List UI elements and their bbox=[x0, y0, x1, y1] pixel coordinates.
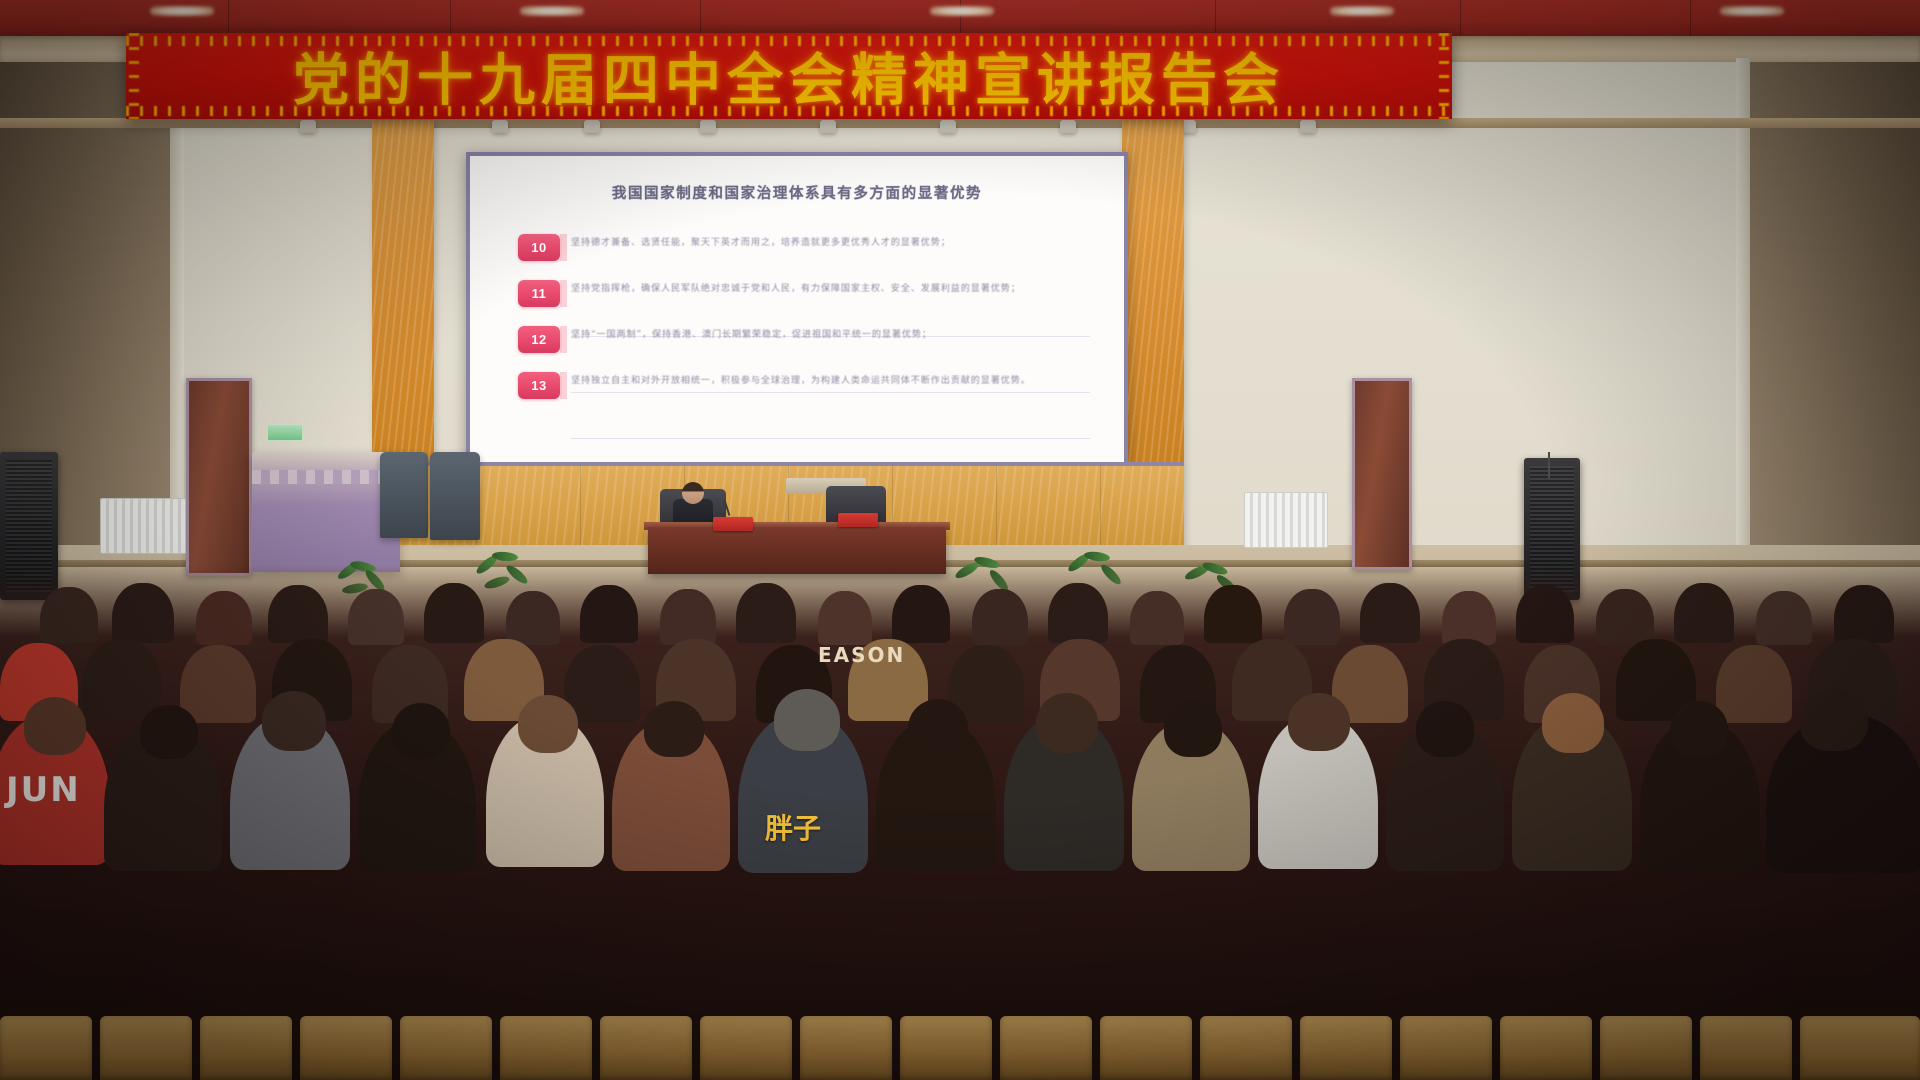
slide-title: 我国国家制度和国家治理体系具有多方面的显著优势 bbox=[470, 182, 1124, 203]
banner-title-text: 党的十九届四中全会精神宣讲报告会 bbox=[126, 36, 1452, 117]
ceiling-light bbox=[520, 6, 584, 16]
audience-member bbox=[660, 589, 716, 645]
audience-head bbox=[774, 689, 840, 751]
ceiling-light bbox=[1720, 6, 1784, 16]
audience-head bbox=[1800, 689, 1868, 751]
nameplate bbox=[713, 517, 753, 531]
list-item: 10 坚持德才兼备、选贤任能，聚天下英才而用之，培养造就更多更优秀人才的显著优势… bbox=[518, 234, 1106, 261]
audience-head bbox=[1288, 693, 1350, 751]
list-item: 11 坚持党指挥枪，确保人民军队绝对忠诚于党和人民，有力保障国家主权、安全、发展… bbox=[518, 280, 1106, 307]
bullet-number-badge: 10 bbox=[518, 234, 560, 261]
audience-member bbox=[112, 583, 174, 643]
table-skirt bbox=[252, 470, 400, 484]
seat bbox=[1000, 1016, 1092, 1080]
audience-member bbox=[82, 639, 162, 721]
track-light bbox=[584, 120, 600, 133]
projection-screen: 我国国家制度和国家治理体系具有多方面的显著优势 10 坚持德才兼备、选贤任能，聚… bbox=[470, 156, 1124, 466]
led-banner: 党的十九届四中全会精神宣讲报告会 bbox=[126, 33, 1452, 119]
jacket-logo-text: 胖子 bbox=[765, 807, 821, 847]
audience-member bbox=[268, 585, 328, 643]
seat bbox=[800, 1016, 892, 1080]
audience-head bbox=[908, 699, 968, 757]
audience-member bbox=[972, 589, 1028, 645]
track-light bbox=[300, 120, 316, 133]
audience-member bbox=[892, 585, 950, 643]
bullet-text: 坚持党指挥枪，确保人民军队绝对忠诚于党和人民，有力保障国家主权、安全、发展利益的… bbox=[571, 280, 1106, 297]
audience-head bbox=[24, 697, 86, 755]
audience-head bbox=[1670, 701, 1728, 757]
list-item: 13 坚持独立自主和对外开放相统一，积极参与全球治理，为构建人类命运共同体不断作… bbox=[518, 372, 1106, 399]
audience-member bbox=[1284, 589, 1340, 645]
mic-stand bbox=[1548, 452, 1550, 478]
track-light bbox=[820, 120, 836, 133]
audience-member bbox=[1834, 585, 1894, 643]
bullet-text: 坚持“一国两制”，保持香港、澳门长期繁荣稳定，促进祖国和平统一的显著优势； bbox=[571, 326, 1106, 343]
bullet-number-badge: 13 bbox=[518, 372, 560, 399]
track-light bbox=[1060, 120, 1076, 133]
audience-head bbox=[1416, 701, 1474, 757]
audience-member bbox=[818, 591, 872, 645]
audience-member bbox=[1716, 645, 1792, 723]
audience-seating-area: 胖子 JUN EASON bbox=[0, 565, 1920, 1080]
ceiling-light bbox=[930, 6, 994, 16]
draped-side-table bbox=[252, 452, 400, 572]
jacket-word-center: EASON bbox=[818, 643, 905, 667]
track-light bbox=[700, 120, 716, 133]
slide-bullet-list: 10 坚持德才兼备、选贤任能，聚天下英才而用之，培养造就更多更优秀人才的显著优势… bbox=[518, 234, 1106, 418]
seat bbox=[200, 1016, 292, 1080]
projection-screen-frame: 我国国家制度和国家治理体系具有多方面的显著优势 10 坚持德才兼备、选贤任能，聚… bbox=[466, 152, 1128, 470]
seat bbox=[1600, 1016, 1692, 1080]
jacket-word-left: JUN bbox=[6, 770, 81, 810]
audience-member bbox=[580, 585, 638, 643]
audience-member bbox=[1130, 591, 1184, 645]
audience-member bbox=[506, 591, 560, 645]
bullet-text: 坚持德才兼备、选贤任能，聚天下英才而用之，培养造就更多更优秀人才的显著优势； bbox=[571, 234, 1106, 251]
audience-member bbox=[1442, 591, 1496, 645]
bullet-number-badge: 12 bbox=[518, 326, 560, 353]
audience-member bbox=[736, 583, 796, 643]
audience-member bbox=[348, 589, 404, 645]
side-chair bbox=[430, 452, 480, 540]
radiator-right bbox=[1244, 492, 1328, 548]
seat bbox=[300, 1016, 392, 1080]
audience-member bbox=[180, 645, 256, 723]
seat bbox=[900, 1016, 992, 1080]
ceiling-light bbox=[1330, 6, 1394, 16]
side-chair bbox=[380, 452, 428, 538]
audience-head bbox=[644, 701, 704, 757]
audience-member bbox=[40, 587, 98, 643]
audience-member bbox=[1516, 585, 1574, 643]
seat bbox=[500, 1016, 592, 1080]
door-left[interactable] bbox=[186, 378, 252, 576]
seat bbox=[1500, 1016, 1592, 1080]
seat bbox=[1300, 1016, 1392, 1080]
audience-member bbox=[1674, 583, 1734, 643]
radiator-left bbox=[100, 498, 186, 554]
bullet-text: 坚持独立自主和对外开放相统一，积极参与全球治理，为构建人类命运共同体不断作出贡献… bbox=[571, 372, 1106, 389]
audience-head bbox=[1164, 701, 1222, 757]
seat bbox=[1100, 1016, 1192, 1080]
seat bbox=[1200, 1016, 1292, 1080]
nameplate bbox=[838, 513, 878, 527]
bullet-number-badge: 11 bbox=[518, 280, 560, 307]
audience-head bbox=[518, 695, 578, 753]
conference-hall-photo: 党的十九届四中全会精神宣讲报告会 我国国家制度和国家治理体系具有多方面的显著优势… bbox=[0, 0, 1920, 1080]
track-light bbox=[940, 120, 956, 133]
track-light bbox=[492, 120, 508, 133]
lighting-track bbox=[0, 118, 1920, 128]
list-item: 12 坚持“一国两制”，保持香港、澳门长期繁荣稳定，促进祖国和平统一的显著优势； bbox=[518, 326, 1106, 353]
seat bbox=[600, 1016, 692, 1080]
seat bbox=[1400, 1016, 1492, 1080]
exit-sign-icon bbox=[267, 424, 303, 441]
seat bbox=[700, 1016, 792, 1080]
audience-member bbox=[1756, 591, 1812, 645]
seat bbox=[100, 1016, 192, 1080]
audience-head bbox=[1036, 693, 1098, 753]
audience-member bbox=[1596, 589, 1654, 645]
audience-head bbox=[1542, 693, 1604, 753]
audience-member bbox=[1048, 583, 1108, 643]
seat bbox=[0, 1016, 92, 1080]
audience-member bbox=[1204, 585, 1262, 643]
door-right[interactable] bbox=[1352, 378, 1412, 570]
track-light bbox=[1300, 120, 1316, 133]
audience-head bbox=[140, 705, 198, 759]
speaker-head bbox=[682, 482, 704, 504]
audience-member bbox=[1360, 583, 1420, 643]
audience-member bbox=[424, 583, 484, 643]
audience-head bbox=[392, 703, 450, 759]
audience-member bbox=[196, 591, 252, 645]
audience-head bbox=[262, 691, 326, 751]
seat bbox=[1800, 1016, 1920, 1080]
seat bbox=[1700, 1016, 1792, 1080]
seat bbox=[400, 1016, 492, 1080]
ceiling-light bbox=[150, 6, 214, 16]
